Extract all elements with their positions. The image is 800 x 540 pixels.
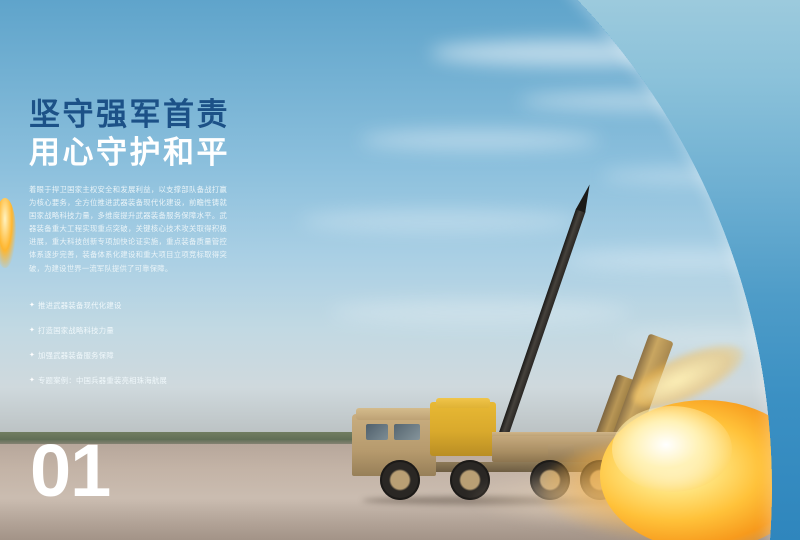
section-number: 01 bbox=[30, 434, 110, 508]
headline-line-2: 用心守护和平 bbox=[29, 134, 329, 172]
list-item-label: 加强武器装备服务保障 bbox=[38, 351, 114, 361]
list-item-label: 推进武器装备现代化建设 bbox=[38, 301, 122, 311]
bullet-marker-icon: ✦ bbox=[29, 326, 38, 336]
list-item: ✦ 推进武器装备现代化建设 bbox=[29, 301, 259, 311]
list-item: ✦ 打造国家战略科技力量 bbox=[29, 326, 259, 336]
body-paragraph: 着眼于捍卫国家主权安全和发展利益，以支撑部队备战打赢为核心要务，全方位推进武器装… bbox=[29, 183, 227, 275]
bullet-marker-icon: ✦ bbox=[29, 376, 38, 386]
headline-block: 坚守强军首责 用心守护和平 bbox=[29, 96, 329, 172]
list-item: ✦ 加强武器装备服务保障 bbox=[29, 351, 259, 361]
list-item: ✦ 专题案例：中国兵器重装亮相珠海航展 bbox=[29, 376, 259, 386]
list-item-label: 专题案例：中国兵器重装亮相珠海航展 bbox=[38, 376, 167, 386]
headline-line-1: 坚守强军首责 bbox=[29, 96, 329, 134]
bullet-marker-icon: ✦ bbox=[29, 351, 38, 361]
bullet-list: ✦ 推进武器装备现代化建设 ✦ 打造国家战略科技力量 ✦ 加强武器装备服务保障 … bbox=[29, 301, 259, 401]
brochure-cover-page: 坚守强军首责 用心守护和平 着眼于捍卫国家主权安全和发展利益，以支撑部队备战打赢… bbox=[0, 0, 800, 540]
bullet-marker-icon: ✦ bbox=[29, 301, 38, 311]
cover-content: 坚守强军首责 用心守护和平 着眼于捍卫国家主权安全和发展利益，以支撑部队备战打赢… bbox=[0, 0, 800, 540]
list-item-label: 打造国家战略科技力量 bbox=[38, 326, 114, 336]
